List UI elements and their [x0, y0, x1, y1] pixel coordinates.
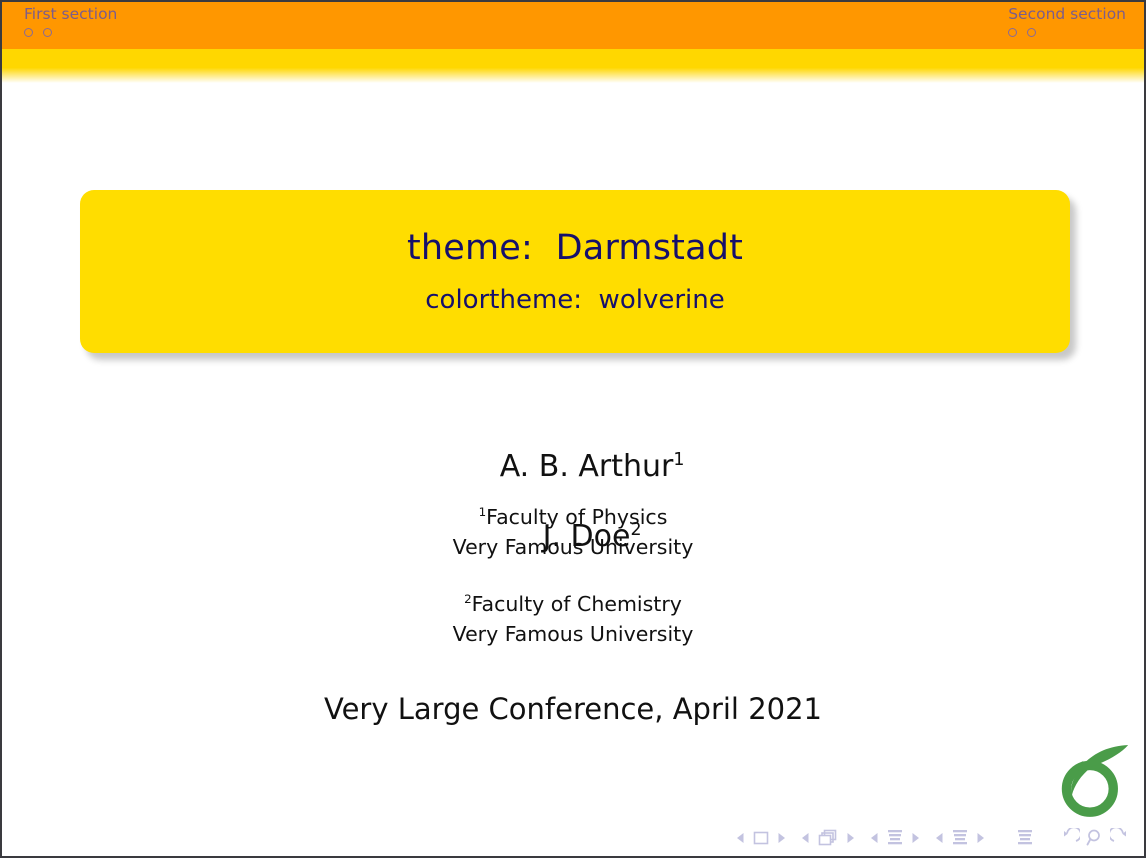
author-name: A. B. Arthur: [500, 449, 674, 484]
section-navigation-bar: [2, 2, 1144, 49]
page-subtitle: colortheme: wolverine: [80, 285, 1070, 316]
next-section-icon[interactable]: [975, 832, 986, 844]
affiliation-department: Faculty of Chemistry: [472, 592, 682, 616]
affiliation-block: 1Faculty of Physics Very Famous Universi…: [2, 502, 1144, 562]
affiliation-block: 2Faculty of Chemistry Very Famous Univer…: [2, 589, 1144, 649]
nav-slide-dot[interactable]: [1008, 28, 1017, 37]
prev-frame-icon[interactable]: [800, 832, 811, 844]
affiliation-institution: Very Famous University: [2, 532, 1144, 562]
document-navigation-group[interactable]: [1016, 828, 1034, 848]
affiliation-marker: 2: [464, 592, 472, 606]
back-arrow-icon[interactable]: [1060, 828, 1080, 848]
prev-subsection-icon[interactable]: [869, 832, 880, 844]
document-lines-icon[interactable]: [1016, 828, 1034, 848]
author-entry: A. B. Arthur1: [500, 449, 685, 484]
affiliation-department-line: 2Faculty of Chemistry: [2, 589, 1144, 619]
slide-square-icon[interactable]: [752, 830, 770, 846]
title-box-content: theme: Darmstadt colortheme: wolverine: [80, 227, 1070, 315]
overleaf-logo: [1054, 742, 1132, 820]
section-lines-icon[interactable]: [951, 828, 969, 848]
nav-slide-dot[interactable]: [1027, 28, 1036, 37]
nav-section-second-dots: [1008, 28, 1126, 37]
title-box: theme: Darmstadt colortheme: wolverine: [80, 190, 1070, 353]
presentation-slide: First section Second section theme: Darm…: [0, 0, 1146, 858]
beamer-navigation-symbols[interactable]: [735, 826, 1130, 850]
prev-section-icon[interactable]: [934, 832, 945, 844]
nav-section-first[interactable]: First section: [24, 5, 117, 37]
slide-navigation-group[interactable]: [735, 830, 787, 846]
next-subsection-icon[interactable]: [910, 832, 921, 844]
history-actions-group[interactable]: [1060, 828, 1130, 848]
author-affiliation-marker: 1: [673, 450, 684, 470]
forward-arrow-icon[interactable]: [1110, 828, 1130, 848]
affiliation-department: Faculty of Physics: [486, 505, 667, 529]
next-frame-icon[interactable]: [845, 832, 856, 844]
next-slide-icon[interactable]: [776, 832, 787, 844]
nav-section-first-dots: [24, 28, 117, 37]
section-navigation-group[interactable]: [934, 828, 986, 848]
nav-slide-dot[interactable]: [43, 28, 52, 37]
stacked-frames-icon[interactable]: [817, 828, 839, 848]
nav-section-second[interactable]: Second section: [1008, 5, 1126, 37]
prev-slide-icon[interactable]: [735, 832, 746, 844]
conference-date: Very Large Conference, April 2021: [2, 692, 1144, 726]
affiliation-institution: Very Famous University: [2, 619, 1144, 649]
affiliation-department-line: 1Faculty of Physics: [2, 502, 1144, 532]
search-icon[interactable]: [1086, 828, 1104, 848]
page-title: theme: Darmstadt: [80, 227, 1070, 267]
subsection-navigation-group[interactable]: [869, 828, 921, 848]
subsection-lines-icon[interactable]: [886, 828, 904, 848]
frame-navigation-group[interactable]: [800, 828, 856, 848]
header-gradient-band: [2, 49, 1144, 83]
nav-slide-dot[interactable]: [24, 28, 33, 37]
